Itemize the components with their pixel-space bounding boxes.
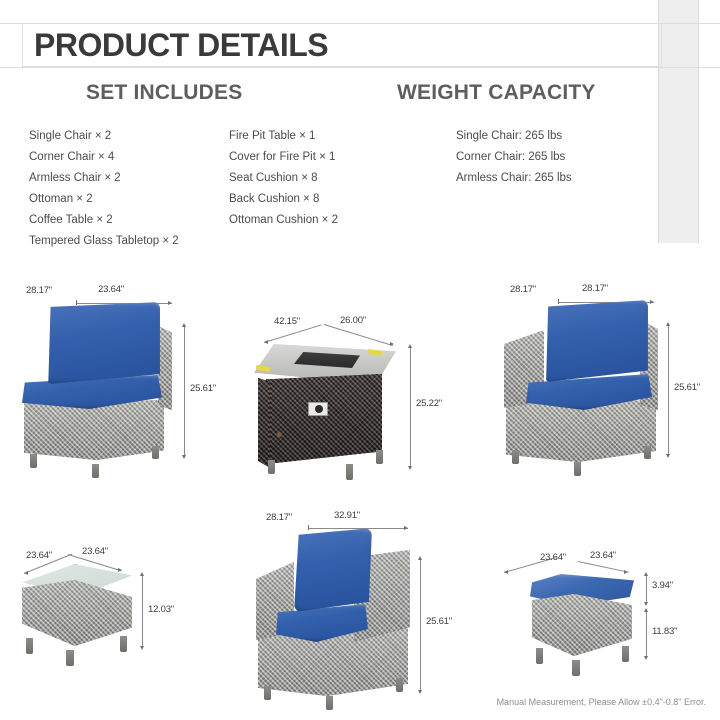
list-item: Ottoman × 2	[29, 189, 179, 210]
page-title: PRODUCT DETAILS	[34, 26, 328, 64]
dim-depth-label: 28.17"	[266, 512, 292, 523]
list-item: Seat Cushion × 8	[229, 168, 338, 189]
header-rule-bottom	[0, 67, 720, 68]
chair-leg	[152, 446, 159, 459]
dim-width-label: 32.91"	[334, 510, 360, 521]
back-cushion	[46, 302, 160, 384]
dim-arrow	[408, 466, 412, 470]
set-includes-column-1: Single Chair × 2 Corner Chair × 4 Armles…	[29, 126, 179, 252]
chair-leg	[396, 678, 403, 692]
dim-height-label: 11.83"	[652, 626, 677, 637]
dim-height-label: 25.61"	[426, 616, 452, 627]
dim-depth-label: 28.17"	[26, 285, 52, 296]
dim-line-height	[420, 560, 421, 690]
dim-height-label: 25.61"	[190, 383, 216, 394]
dim-arrow	[140, 646, 144, 650]
dim-line-cushion-height	[646, 576, 647, 602]
dim-height-label: 12.03"	[148, 604, 174, 615]
dim-arrow	[418, 690, 422, 694]
ottoman-leg	[572, 660, 580, 676]
control-knob-icon	[315, 405, 323, 413]
dim-line-height	[184, 327, 185, 455]
dim-line-width	[264, 324, 322, 342]
set-includes-column-2: Fire Pit Table × 1 Cover for Fire Pit × …	[229, 126, 338, 231]
list-item: Corner Chair: 265 lbs	[456, 147, 572, 168]
dim-arrow	[624, 570, 628, 574]
chair-leg	[30, 454, 37, 468]
dim-arrow	[118, 568, 122, 572]
section-heading-set-includes: SET INCLUDES	[86, 81, 242, 105]
ottoman-leg	[536, 648, 543, 664]
dim-arrow	[140, 572, 144, 576]
dim-width-label: 28.17"	[582, 283, 608, 294]
dim-line-height	[142, 576, 143, 646]
chair-base	[258, 628, 408, 696]
dim-line-depth	[324, 324, 393, 346]
product-details-page: PRODUCT DETAILS SET INCLUDES WEIGHT CAPA…	[0, 0, 720, 720]
list-item: Coffee Table × 2	[29, 210, 179, 231]
dim-arrow	[504, 570, 508, 574]
figure-single-chair: 28.17" 32.91" 25.61"	[250, 500, 500, 700]
dim-depth-label: 23.64"	[26, 550, 52, 561]
dim-width-label: 23.64"	[590, 550, 616, 561]
list-item: Single Chair × 2	[29, 126, 179, 147]
dim-tick	[308, 525, 309, 530]
table-leg	[376, 450, 383, 464]
weight-capacity-list: Single Chair: 265 lbs Corner Chair: 265 …	[456, 126, 572, 189]
dim-arrow	[390, 342, 394, 346]
list-item: Ottoman Cushion × 2	[229, 210, 338, 231]
ottoman-leg	[622, 646, 629, 662]
list-item: Single Chair: 265 lbs	[456, 126, 572, 147]
back-cushion	[544, 300, 648, 382]
table-body	[22, 580, 132, 646]
dim-line-height	[410, 348, 411, 466]
chair-leg	[512, 450, 519, 464]
dim-arrow	[264, 340, 268, 344]
back-cushion	[294, 528, 372, 612]
dim-tick	[558, 299, 559, 304]
measurement-disclaimer: Manual Measurement, Please Allow ±0.4"-0…	[497, 697, 706, 707]
dim-cushion-height-label: 3.94"	[652, 580, 673, 591]
dim-height-label: 25.61"	[674, 382, 700, 393]
list-item: Back Cushion × 8	[229, 189, 338, 210]
dim-line-height	[668, 326, 669, 454]
list-item: Armless Chair × 2	[29, 168, 179, 189]
dim-arrow	[404, 526, 408, 530]
list-item: Cover for Fire Pit × 1	[229, 147, 338, 168]
dim-arrow	[182, 455, 186, 459]
ottoman-base	[532, 594, 632, 656]
chair-leg	[326, 696, 333, 710]
dim-arrow	[182, 323, 186, 327]
table-leg	[120, 636, 127, 652]
dim-depth-label: 23.64"	[540, 552, 566, 563]
dim-arrow	[418, 556, 422, 560]
section-heading-weight-capacity: WEIGHT CAPACITY	[397, 81, 596, 105]
figure-fire-pit-table: 42.15" 26.00" 25.22"	[250, 300, 480, 500]
header-gray-band	[658, 0, 699, 243]
dim-width-label: 23.64"	[98, 284, 124, 295]
table-leg	[26, 638, 33, 654]
table-leg	[346, 464, 353, 480]
dim-line-width	[578, 561, 629, 573]
figure-coffee-table: 23.64" 23.64" 12.03"	[0, 530, 230, 680]
chair-leg	[644, 446, 651, 459]
dim-arrow	[666, 454, 670, 458]
dim-tick	[76, 300, 77, 305]
chair-leg	[92, 464, 99, 478]
dim-arrow	[644, 572, 648, 576]
dim-arrow	[650, 300, 654, 304]
chair-base	[24, 400, 164, 460]
chair-leg	[574, 462, 581, 476]
valve-knob-icon	[277, 432, 282, 437]
list-item: Tempered Glass Tabletop × 2	[29, 231, 179, 252]
table-leg	[268, 460, 275, 474]
dim-arrow	[644, 602, 648, 606]
dim-width-label: 23.64"	[82, 546, 108, 557]
dim-height-label: 25.22"	[416, 398, 442, 409]
dim-depth-label: 26.00"	[340, 315, 366, 326]
firepit-body	[266, 374, 382, 464]
list-item: Fire Pit Table × 1	[229, 126, 338, 147]
dim-arrow	[666, 322, 670, 326]
firepit-side-panel	[258, 378, 270, 468]
dim-arrow	[644, 608, 648, 612]
list-item: Armless Chair: 265 lbs	[456, 168, 572, 189]
dim-line-height	[646, 612, 647, 656]
dim-arrow	[408, 344, 412, 348]
dim-arrow	[168, 301, 172, 305]
dim-line-width	[308, 528, 408, 529]
table-leg	[66, 650, 74, 666]
dim-depth-label: 28.17"	[510, 284, 536, 295]
figure-ottoman: 23.64" 23.64" 3.94" 11.83"	[510, 530, 720, 680]
chair-leg	[264, 686, 271, 700]
dim-arrow	[644, 656, 648, 660]
dim-width-label: 42.15"	[274, 316, 300, 327]
list-item: Corner Chair × 4	[29, 147, 179, 168]
figure-armless-chair: 28.17" 23.64" 25.61"	[0, 270, 240, 490]
figure-corner-chair: 28.17" 28.17" 25.61"	[490, 270, 720, 490]
